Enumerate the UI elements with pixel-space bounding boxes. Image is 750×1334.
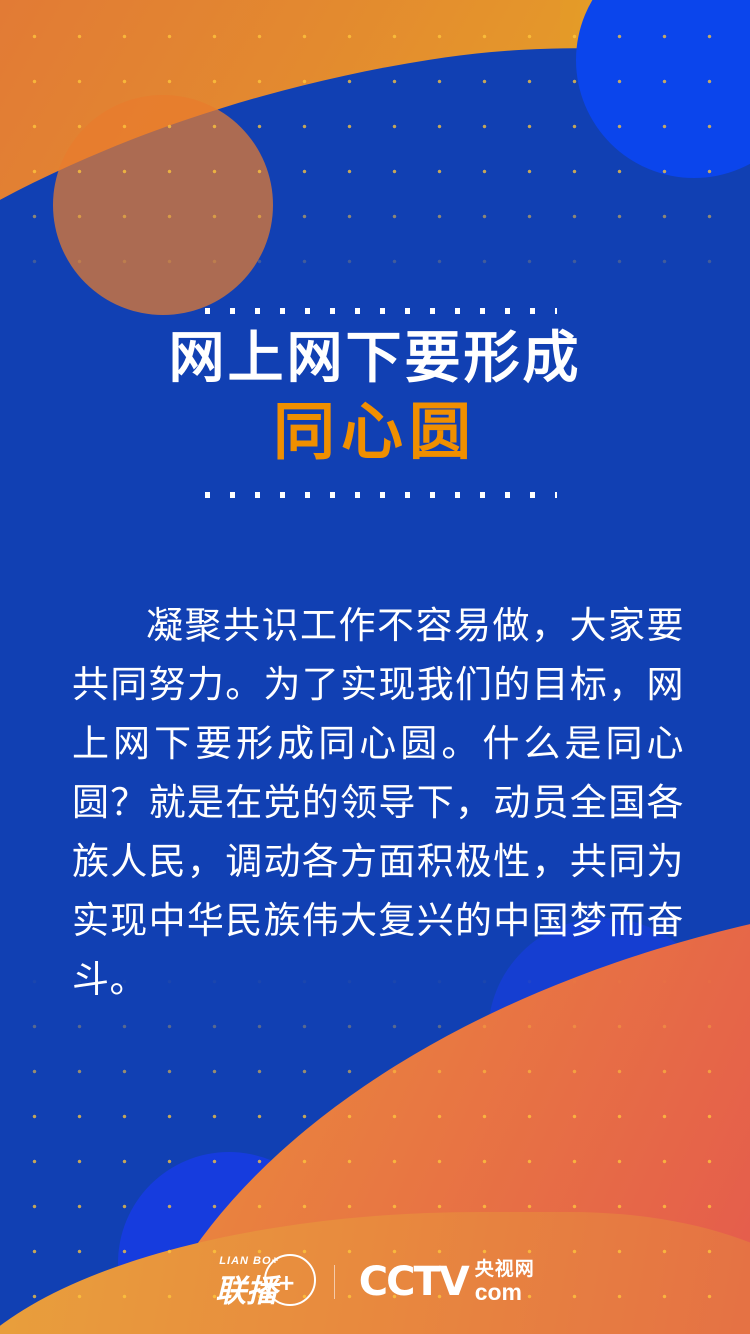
lianbo-name-label: 联播+ (215, 1267, 295, 1308)
lianbo-cn-text: 联播 (215, 1273, 277, 1309)
lianbo-logo[interactable]: LIAN BO+ 联播+ (215, 1256, 309, 1308)
cctv-logo[interactable]: CCTV 央视网 com (359, 1260, 535, 1304)
cctv-wordmark: CCTV (359, 1261, 468, 1303)
title-line-primary: 网上网下要形成 (0, 326, 750, 392)
poster-title: 网上网下要形成 同心圆 (0, 326, 750, 472)
dotted-divider-bottom (205, 492, 557, 498)
cctv-com-label: com (475, 1281, 535, 1304)
title-line-highlight: 同心圆 (0, 392, 750, 472)
lianbo-pinyin-label: LIAN BO+ (215, 1255, 295, 1267)
quote-body-text: 凝聚共识工作不容易做，大家要共同努力。为了实现我们的目标，网上网下要形成同心圆。… (72, 596, 684, 1009)
orange-accent-circle (53, 95, 273, 315)
footer-logo-bar: LIAN BO+ 联播+ CCTV 央视网 com (0, 1256, 750, 1308)
poster-canvas: 网上网下要形成 同心圆 凝聚共识工作不容易做，大家要共同努力。为了实现我们的目标… (0, 0, 750, 1334)
cctv-cn-label: 央视网 (475, 1260, 535, 1279)
dotted-divider-top (205, 308, 557, 314)
footer-divider (334, 1265, 335, 1299)
lianbo-plus-glyph: + (277, 1271, 295, 1296)
